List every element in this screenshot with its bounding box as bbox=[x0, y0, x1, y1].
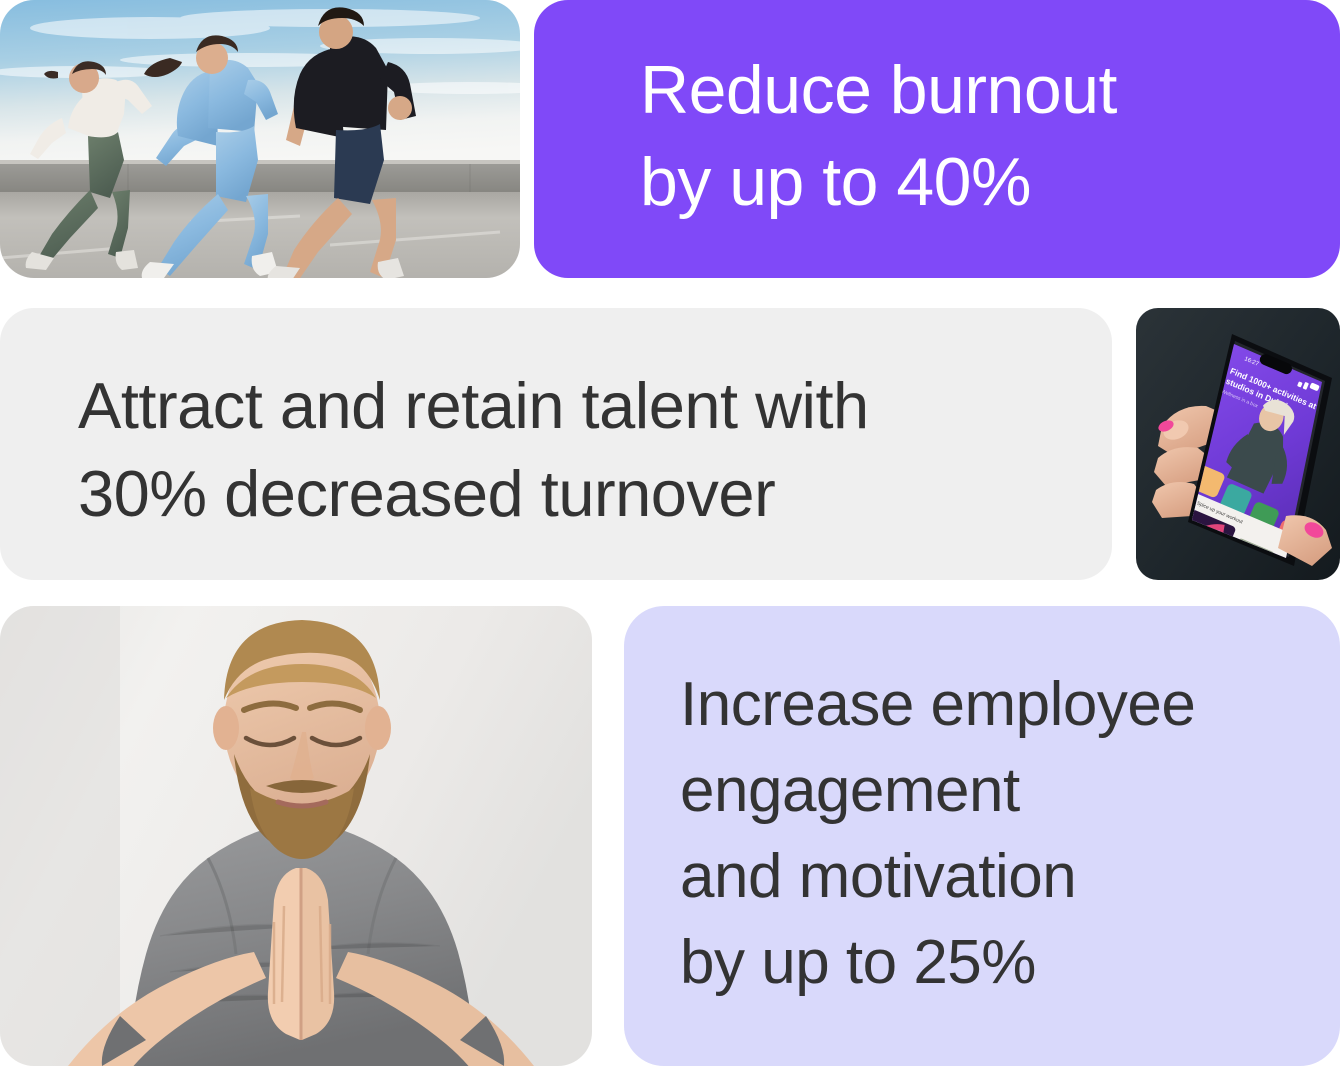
increase-engagement-card: Increase employee engagement and motivat… bbox=[624, 606, 1340, 1066]
benefits-board: Reduce burnout by up to 40% Attract and … bbox=[0, 0, 1340, 1066]
increase-engagement-headline: Increase employee engagement and motivat… bbox=[680, 662, 1195, 1006]
runners-photo bbox=[0, 0, 520, 278]
meditation-photo bbox=[0, 606, 592, 1066]
phone-app-photo-card: 16:27 Find 1000+ activities at 90+ studi… bbox=[1136, 308, 1340, 580]
meditation-photo-card bbox=[0, 606, 592, 1066]
attract-retain-card: Attract and retain talent with 30% decre… bbox=[0, 308, 1112, 580]
reduce-burnout-card: Reduce burnout by up to 40% bbox=[534, 0, 1340, 278]
attract-retain-headline: Attract and retain talent with 30% decre… bbox=[78, 362, 869, 538]
reduce-burnout-headline: Reduce burnout by up to 40% bbox=[640, 44, 1117, 228]
phone-app-photo: 16:27 Find 1000+ activities at 90+ studi… bbox=[1136, 308, 1340, 580]
runners-photo-card bbox=[0, 0, 520, 278]
